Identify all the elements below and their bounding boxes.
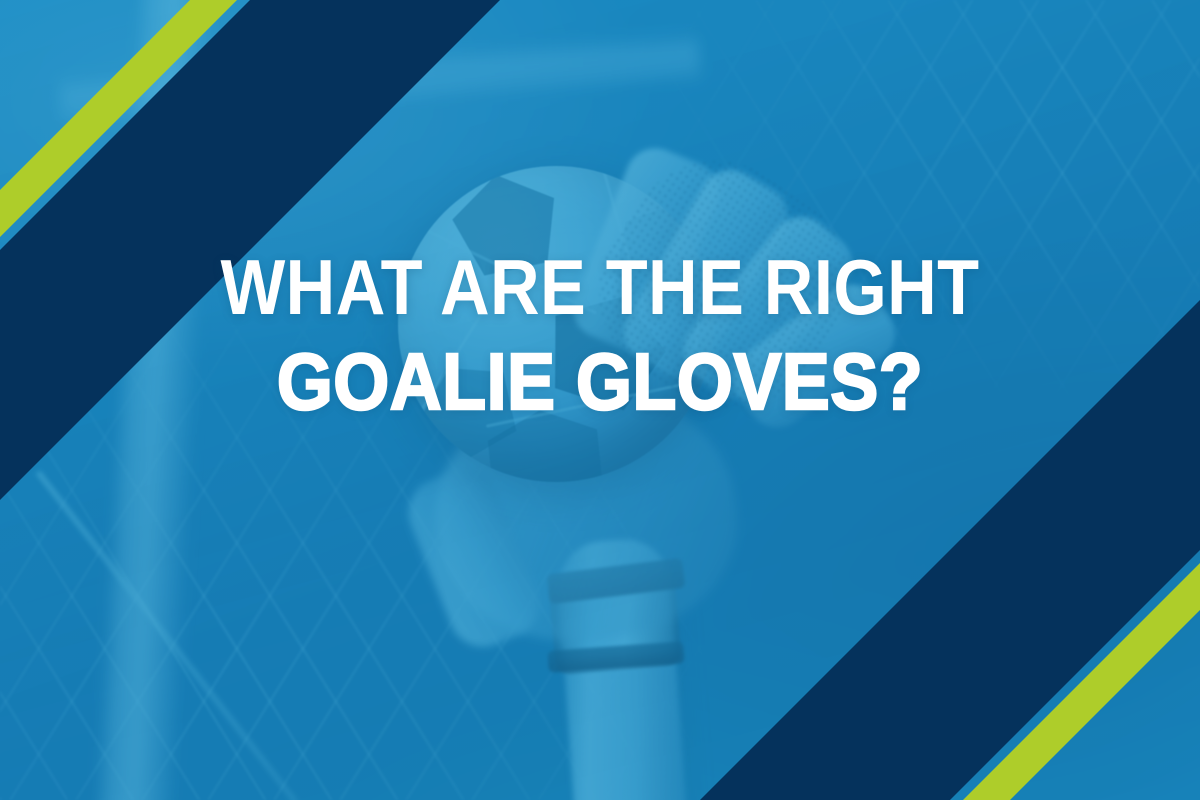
promo-banner: WHAT ARE THE RIGHT GOALIE GLOVES? bbox=[0, 0, 1200, 800]
page-title: WHAT ARE THE RIGHT GOALIE GLOVES? bbox=[0, 248, 1200, 422]
headline-line-2: GOALIE GLOVES? bbox=[60, 342, 1140, 422]
headline-line-1: WHAT ARE THE RIGHT bbox=[72, 248, 1128, 326]
